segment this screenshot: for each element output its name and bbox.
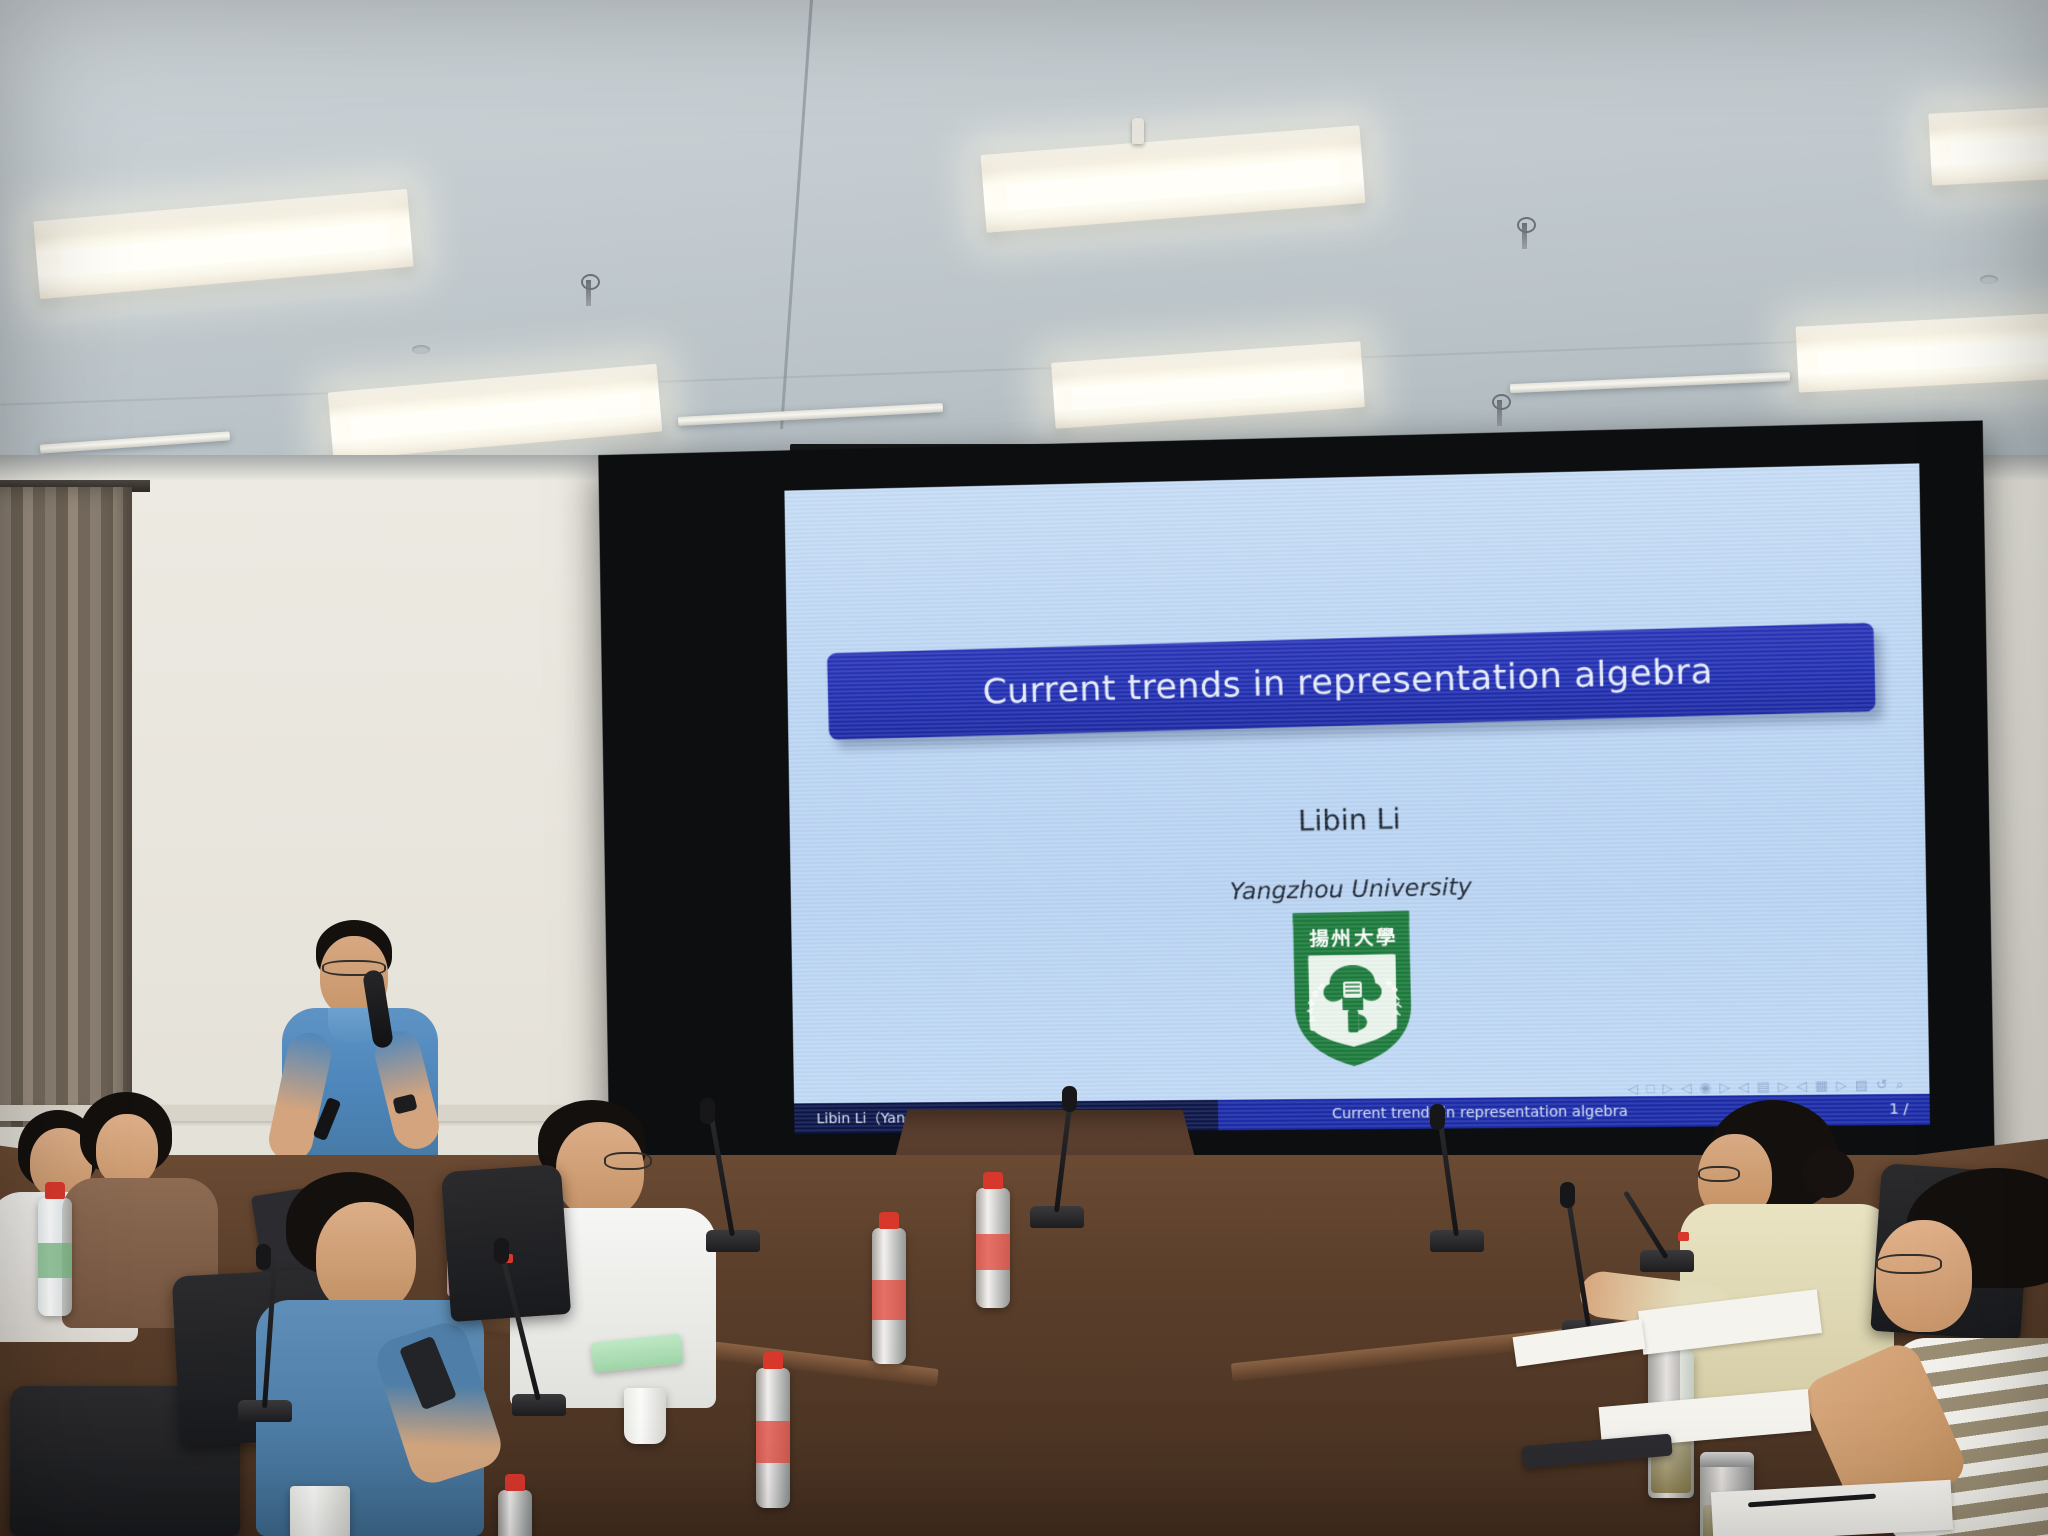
sprinkler-head [1132,118,1144,144]
bottle-cap [879,1212,899,1229]
bottle-cap [45,1182,65,1199]
paper-cup-1 [624,1388,666,1444]
hair-bun-knot [1802,1148,1854,1198]
svg-text:學: 學 [1375,927,1395,950]
slide-author: Libin Li [789,790,1925,849]
mic-indicator-7 [1678,1232,1689,1241]
mic-head-1 [256,1244,271,1270]
footer-title: Current trends in representation algebra [1218,1095,1744,1130]
light-tube [1817,337,2048,375]
attendee-glasses [604,1152,652,1170]
bottle-label [756,1421,790,1463]
slide-title: Current trends in representation algebra [982,651,1713,712]
ceiling-hook-1 [586,280,591,306]
ceiling-hook-2 [1522,223,1527,249]
slide-title-bar: Current trends in representation algebra [827,623,1876,740]
svg-text:揚: 揚 [1309,927,1329,951]
slide-affiliation: Yangzhou University [791,865,1927,915]
bottle-label [976,1234,1010,1270]
svg-text:大: 大 [1353,926,1373,950]
mic-head-5 [1430,1104,1445,1130]
bottle-cap [505,1474,525,1491]
bottle-label [872,1280,906,1321]
water-bottle-2 [756,1368,790,1508]
attendee-head [556,1122,644,1218]
mic-head-2 [494,1238,509,1264]
light-tube [1950,126,2048,166]
ceiling-hook-3 [1497,400,1502,426]
ceiling-vent-dot-2 [1980,275,1998,284]
light-tube [1071,369,1345,410]
svg-text:州: 州 [1330,927,1350,950]
bottle-cap [983,1172,1003,1189]
light-tube [350,393,641,441]
light-tube [58,222,389,277]
mic-head-3 [700,1098,715,1124]
bottle-label [38,1243,72,1278]
projection-screen[interactable]: Current trends in representation algebra… [598,420,1995,1185]
paper-cup-2 [290,1486,350,1536]
mic-head-4 [1062,1086,1077,1112]
water-bottle-left-far [38,1198,72,1316]
presentation-slide[interactable]: Current trends in representation algebra… [784,463,1930,1133]
attendee-head [316,1202,416,1314]
water-bottle-1 [872,1228,906,1364]
attendee-glasses [1698,1166,1740,1182]
light-tube [1006,158,1341,211]
bottle-cap [763,1352,783,1369]
attendee-head [96,1114,158,1186]
attendee-right-striped [1866,1168,2048,1536]
ceiling-vent-dot-1 [412,345,430,354]
yangzhou-university-logo-icon: 揚 州 大 學 Y [1286,907,1418,1070]
flask-lid [1700,1452,1754,1467]
water-bottle-4 [498,1490,532,1536]
mic-head-6 [1560,1182,1575,1208]
window-curtain [0,487,132,1127]
attendee-head [1876,1220,1972,1332]
attendee-glasses [1876,1254,1942,1274]
water-bottle-3 [976,1188,1010,1308]
photo-scene: Current trends in representation algebra… [0,0,2048,1536]
